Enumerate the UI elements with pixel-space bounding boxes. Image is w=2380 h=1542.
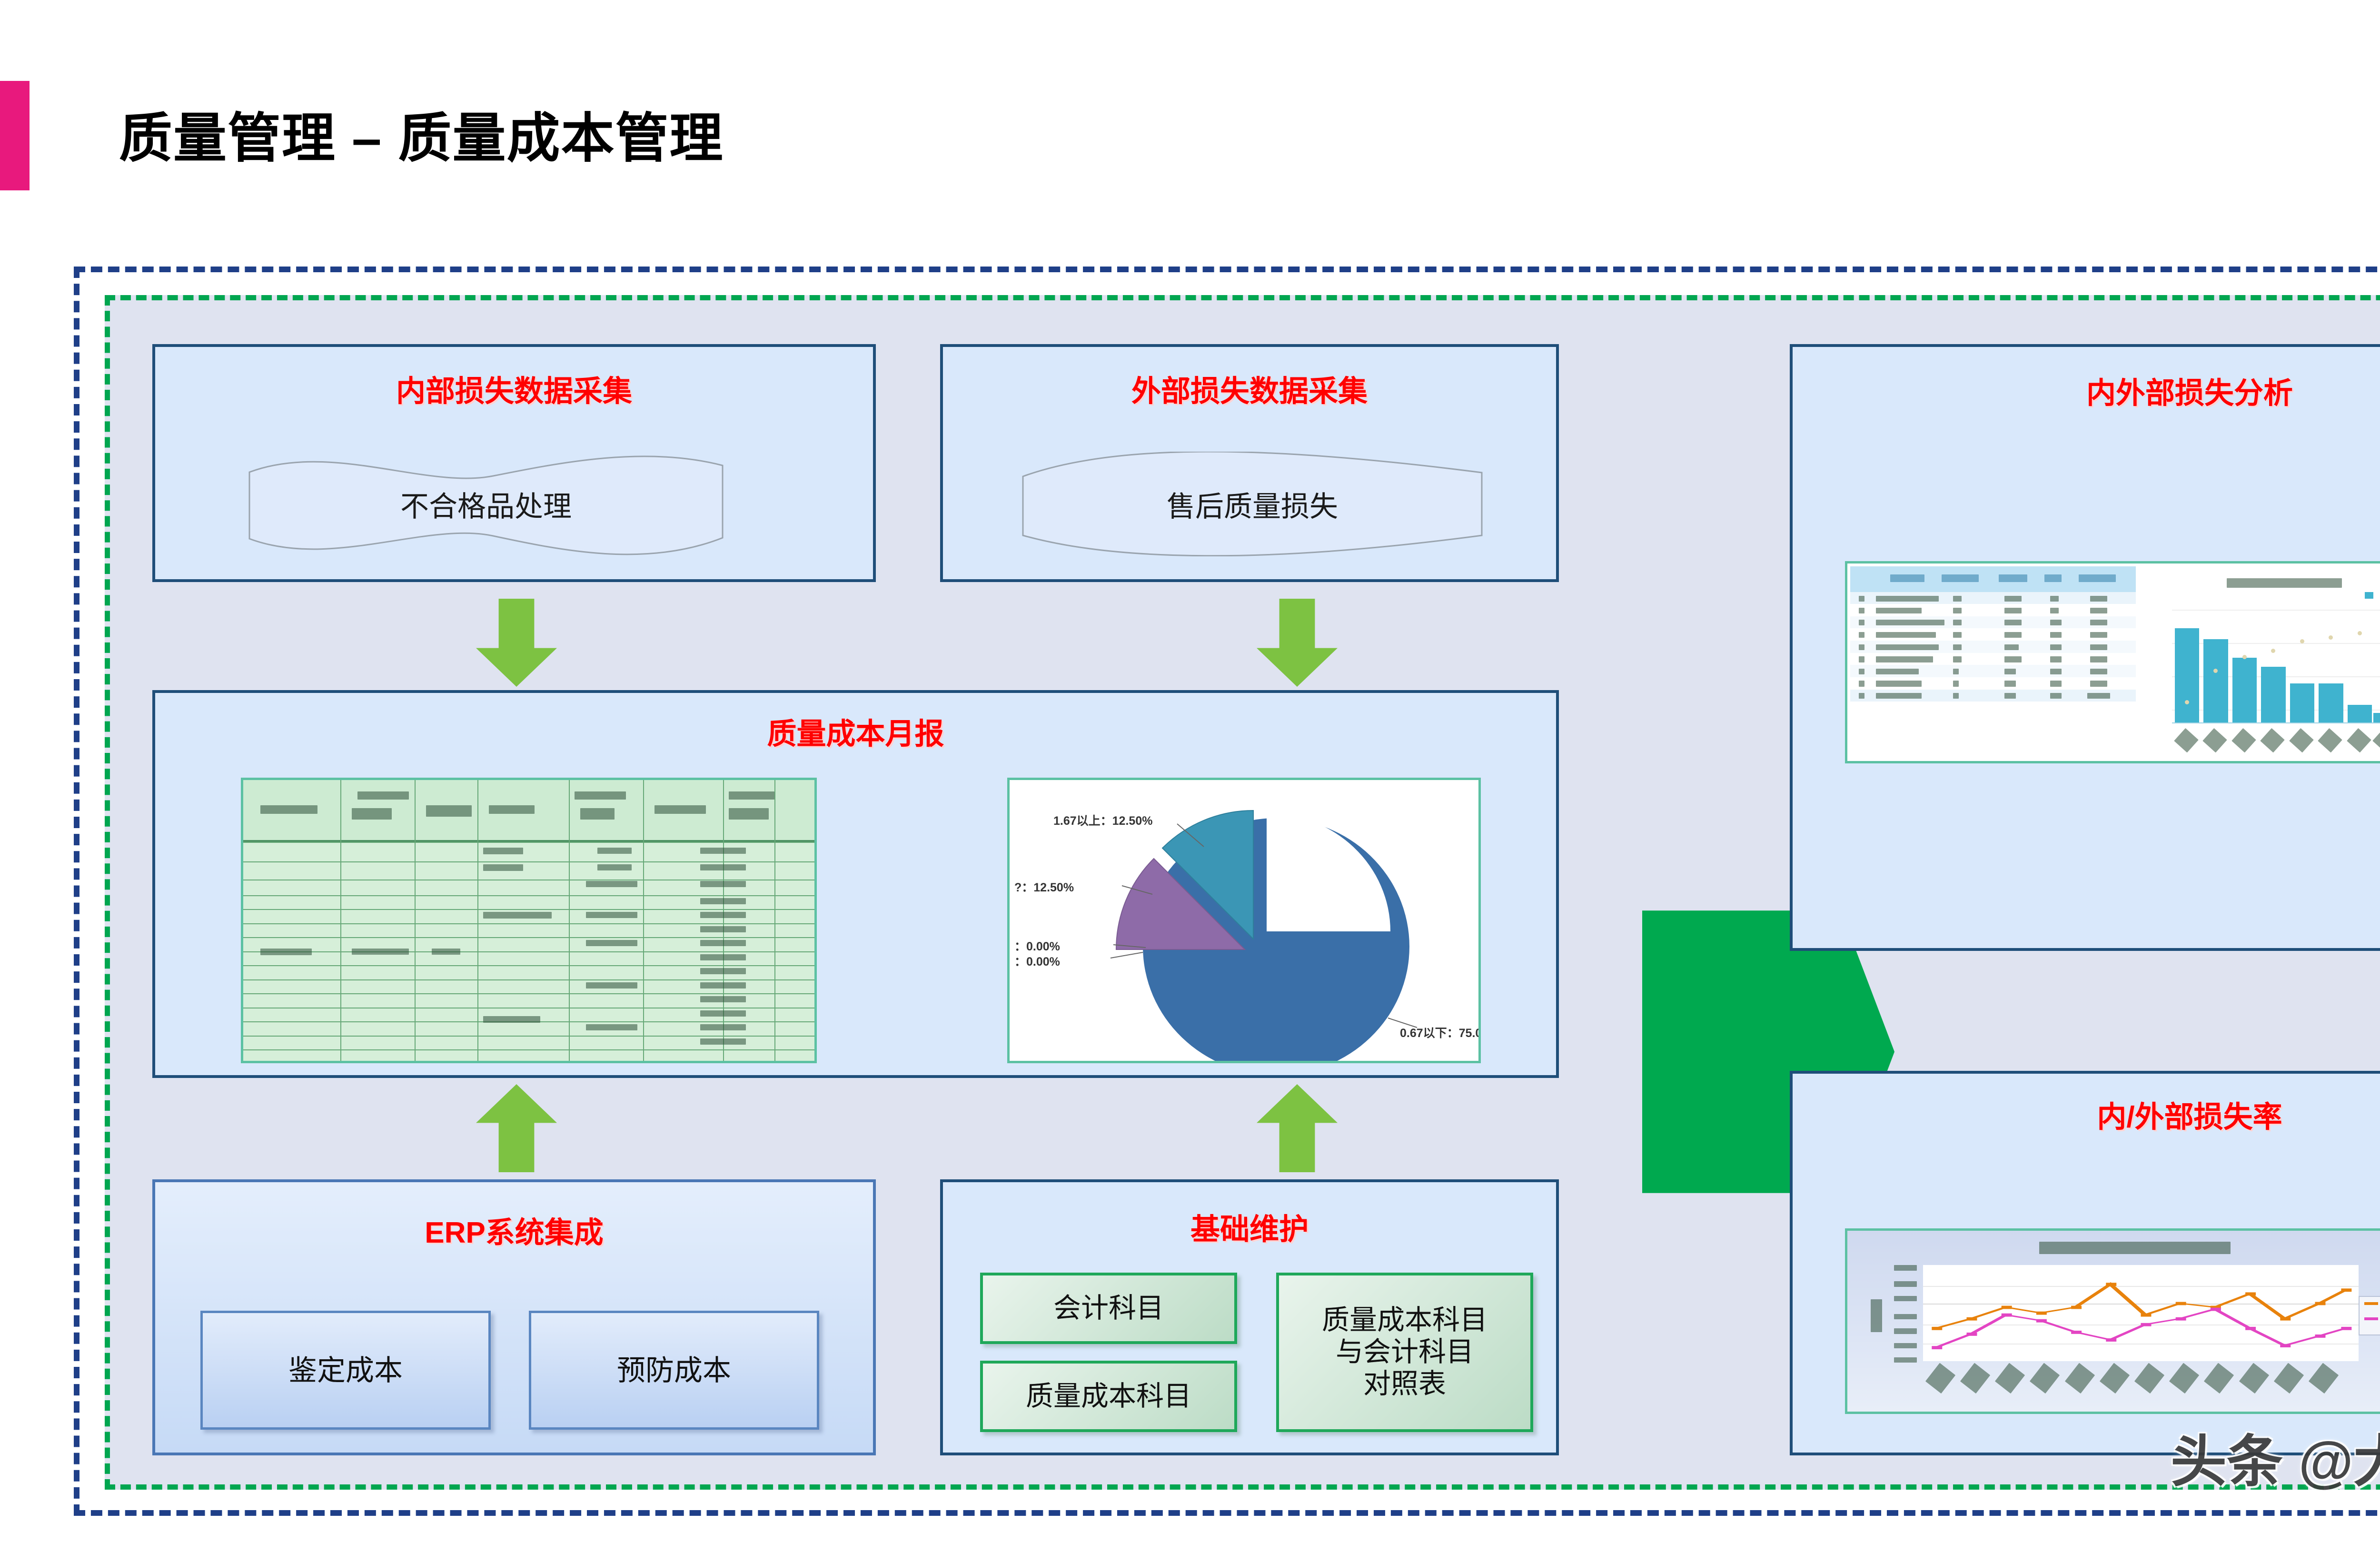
basic-item-accounting-subject-label: 会计科目 [1053, 1293, 1164, 1325]
monthly-report-table-image [241, 778, 817, 1063]
basic-item-mapping-table-label: 质量成本科目 与会计科目 对照表 [1322, 1305, 1487, 1400]
panel-basic-maintenance-title: 基础维护 [943, 1205, 1556, 1248]
line-chart-series [1923, 1265, 2359, 1361]
basic-item-accounting-subject[interactable]: 会计科目 [980, 1273, 1237, 1344]
quality-cost-pie-chart: 1.67以上：12.50% ?：12.50% ：0.00% ：0.00% 0.6… [1007, 778, 1481, 1063]
basic-item-quality-cost-subject[interactable]: 质量成本科目 [980, 1361, 1237, 1432]
panel-loss-rate[interactable]: 内/外部损失率 [1790, 1071, 2380, 1455]
pie-label-2: ：0.00% [1014, 937, 1060, 954]
slide-root: 质量管理 – 质量成本管理 内部损失数据采集 不合格品处理 外部损失数据采集 售… [0, 0, 2380, 1542]
panel-loss-analysis[interactable]: 内外部损失分析 [1790, 344, 2380, 951]
erp-item-appraisal-cost-label: 鉴定成本 [288, 1354, 403, 1387]
panel-loss-rate-title: 内/外部损失率 [1793, 1093, 2380, 1136]
pie-label-3: ：0.00% [1014, 952, 1060, 969]
basic-item-mapping-table[interactable]: 质量成本科目 与会计科目 对照表 [1276, 1273, 1533, 1432]
panel-basic-maintenance[interactable]: 基础维护 会计科目 质量成本科目 质量成本科目 与会计科目 对照表 [940, 1179, 1559, 1455]
erp-item-prevention-cost-label: 预防成本 [617, 1354, 731, 1387]
panel-erp-integration[interactable]: ERP系统集成 鉴定成本 预防成本 [152, 1179, 876, 1455]
pareto-chart [2140, 566, 2380, 763]
panel-external-loss[interactable]: 外部损失数据采集 售后质量损失 [940, 344, 1559, 582]
panel-internal-loss-title: 内部损失数据采集 [155, 367, 873, 410]
panel-external-loss-title: 外部损失数据采集 [943, 367, 1556, 410]
pie-label-1: ?：12.50% [1014, 878, 1074, 895]
line-chart-title-blur [2039, 1242, 2231, 1255]
ribbon-after-sales-loss[interactable]: 售后质量损失 [1019, 452, 1486, 556]
panel-monthly-report-title: 质量成本月报 [155, 710, 1556, 752]
page-title: 质量管理 – 质量成本管理 [119, 95, 724, 172]
line-chart-legend [2359, 1296, 2380, 1336]
watermark: 头条 @大音智能 [2171, 1416, 2380, 1497]
pie-label-4: 0.67以下：75.00% [1400, 1024, 1481, 1041]
pareto-legend-swatch [2365, 592, 2373, 599]
ribbon-nonconforming-handling[interactable]: 不合格品处理 [246, 449, 726, 559]
basic-item-quality-cost-subject-label: 质量成本科目 [1026, 1381, 1191, 1413]
title-accent-bar [0, 81, 30, 190]
pie-label-0: 1.67以上：12.50% [1053, 811, 1152, 829]
panel-monthly-report[interactable]: 质量成本月报 [152, 690, 1559, 1078]
monthly-report-table-grid [243, 780, 814, 1061]
line-chart-plot-area [1923, 1265, 2359, 1361]
pareto-chart-title-blur [2227, 578, 2342, 588]
erp-item-prevention-cost[interactable]: 预防成本 [529, 1311, 819, 1430]
panel-loss-analysis-title: 内外部损失分析 [1793, 369, 2380, 412]
panel-internal-loss[interactable]: 内部损失数据采集 不合格品处理 [152, 344, 876, 582]
pareto-analysis-image [1845, 561, 2380, 763]
pareto-data-table [1850, 566, 2136, 763]
panel-erp-title: ERP系统集成 [155, 1208, 873, 1251]
erp-item-appraisal-cost[interactable]: 鉴定成本 [200, 1311, 491, 1430]
ribbon-internal-label: 不合格品处理 [400, 484, 572, 525]
pass-rate-line-chart [1845, 1228, 2380, 1414]
ribbon-external-label: 售后质量损失 [1167, 484, 1338, 525]
